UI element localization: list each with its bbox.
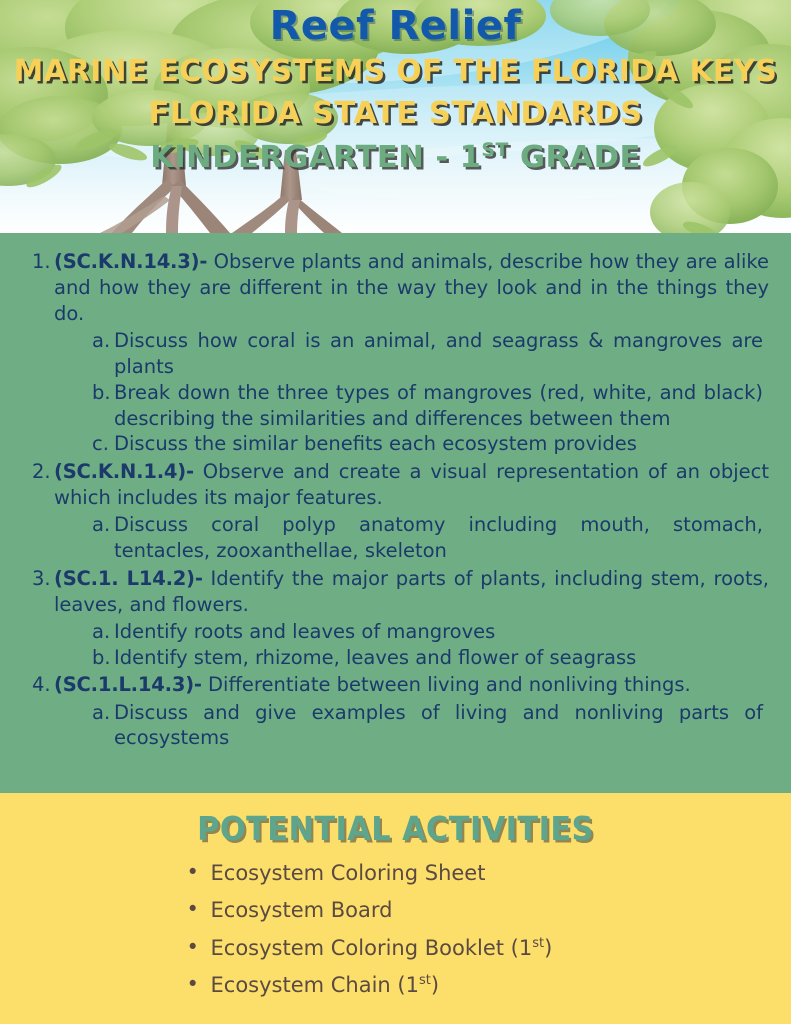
activity-tail: ) bbox=[544, 936, 552, 960]
standard-item: (SC.K.N.1.4)- Observe and create a visua… bbox=[28, 459, 769, 564]
grade-level-title: KINDERGARTEN - 1ST GRADE bbox=[0, 142, 791, 174]
activity-label: Ecosystem Board bbox=[211, 898, 393, 922]
standard-item: (SC.K.N.14.3)- Observe plants and animal… bbox=[28, 249, 769, 457]
activities-list: Ecosystem Coloring Sheet Ecosystem Board… bbox=[181, 858, 611, 1001]
standard-code: (SC.K.N.14.3)- bbox=[54, 250, 207, 273]
standard-code: (SC.1.L.14.3)- bbox=[54, 673, 202, 696]
standards-section: (SC.K.N.14.3)- Observe plants and animal… bbox=[0, 233, 791, 793]
activity-ordinal-suffix: st bbox=[419, 973, 431, 988]
activities-section: POTENTIAL ACTIVITIES Ecosystem Coloring … bbox=[0, 793, 791, 1024]
standard-subitem: Discuss and give examples of living and … bbox=[92, 700, 763, 751]
reef-relief-logo: Reef Relief bbox=[0, 6, 791, 46]
standard-code: (SC.1. L14.2)- bbox=[54, 567, 203, 590]
activity-item: Ecosystem Chain (1st) bbox=[181, 970, 611, 1000]
standard-subitem-list: Discuss coral polyp anatomy including mo… bbox=[54, 512, 769, 563]
grade-ordinal-suffix: ST bbox=[481, 139, 509, 161]
standard-subitem: Discuss coral polyp anatomy including mo… bbox=[92, 512, 763, 563]
standard-subitem-list: Identify roots and leaves of mangroves I… bbox=[54, 619, 769, 670]
standard-subitem: Identify stem, rhizome, leaves and flowe… bbox=[92, 645, 763, 671]
standard-subitem: Discuss the similar benefits each ecosys… bbox=[92, 431, 763, 457]
page-subtitle: FLORIDA STATE STANDARDS bbox=[0, 98, 791, 130]
standard-item: (SC.1.L.14.3)- Differentiate between liv… bbox=[28, 672, 769, 751]
standard-subitem-list: Discuss and give examples of living and … bbox=[54, 700, 769, 751]
standard-subitem: Identify roots and leaves of mangroves bbox=[92, 619, 763, 645]
standard-subitem-list: Discuss how coral is an animal, and seag… bbox=[54, 328, 769, 457]
grade-prefix: KINDERGARTEN - 1 bbox=[150, 140, 481, 175]
standard-subitem: Discuss how coral is an animal, and seag… bbox=[92, 328, 763, 379]
activity-label: Ecosystem Coloring Sheet bbox=[211, 861, 486, 885]
standard-subitem: Break down the three types of mangroves … bbox=[92, 380, 763, 431]
activities-title: POTENTIAL ACTIVITIES bbox=[32, 809, 760, 848]
standards-list: (SC.K.N.14.3)- Observe plants and animal… bbox=[28, 249, 769, 751]
header-text-stack: Reef Relief MARINE ECOSYSTEMS OF THE FLO… bbox=[0, 0, 791, 174]
page-title: MARINE ECOSYSTEMS OF THE FLORIDA KEYS bbox=[12, 56, 779, 88]
activity-item: Ecosystem Board bbox=[181, 895, 611, 925]
standard-item: (SC.1. L14.2)- Identify the major parts … bbox=[28, 566, 769, 671]
activity-ordinal-suffix: st bbox=[532, 936, 544, 951]
activity-item: Ecosystem Coloring Sheet bbox=[181, 858, 611, 888]
grade-suffix: GRADE bbox=[509, 140, 641, 175]
standard-code: (SC.K.N.1.4)- bbox=[54, 460, 194, 483]
activity-label: Ecosystem Chain (1 bbox=[211, 973, 419, 997]
activity-item: Ecosystem Coloring Booklet (1st) bbox=[181, 933, 611, 963]
activity-tail: ) bbox=[431, 973, 439, 997]
header-banner: Reef Relief MARINE ECOSYSTEMS OF THE FLO… bbox=[0, 0, 791, 233]
poster-page: Reef Relief MARINE ECOSYSTEMS OF THE FLO… bbox=[0, 0, 791, 1024]
activity-label: Ecosystem Coloring Booklet (1 bbox=[211, 936, 533, 960]
standard-text: Differentiate between living and nonlivi… bbox=[202, 673, 691, 696]
